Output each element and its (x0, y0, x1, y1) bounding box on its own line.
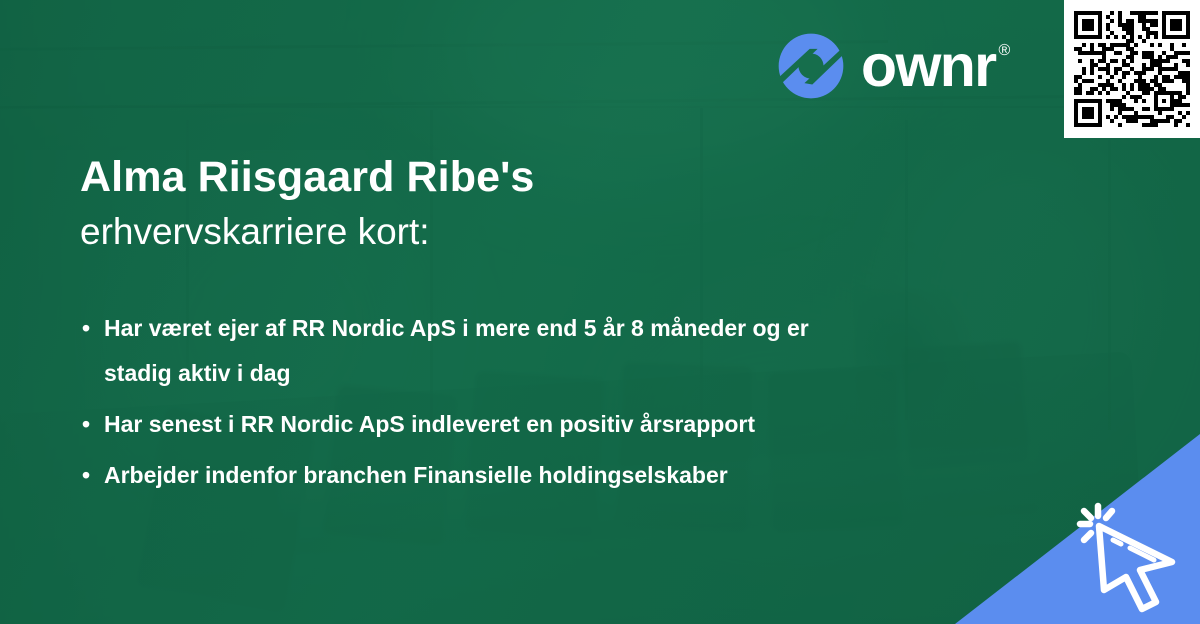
registered-trademark-icon: ® (999, 43, 1011, 59)
headline-line-2: erhvervskarriere kort: (80, 209, 960, 255)
brand-name: ownr (861, 37, 996, 96)
qr-code-icon[interactable] (1074, 11, 1190, 127)
career-facts-list: Har været ejer af RR Nordic ApS i mere e… (80, 306, 980, 503)
list-item: Arbejder indenfor branchen Finansielle h… (80, 453, 980, 498)
headline-line-1: Alma Riisgaard Ribe's (80, 152, 960, 203)
page-title: Alma Riisgaard Ribe's erhvervskarriere k… (80, 152, 960, 255)
ownr-circle-mark-icon (778, 33, 844, 99)
list-item: Har senest i RR Nordic ApS indleveret en… (80, 402, 980, 447)
list-item: Har været ejer af RR Nordic ApS i mere e… (80, 306, 874, 396)
career-card: ownr ® Alma Riisgaard Ribe's erhvervskar… (0, 0, 1200, 624)
brand-wordmark: ownr ® (861, 37, 1010, 96)
qr-code-panel[interactable] (1064, 0, 1200, 138)
brand-logo: ownr ® (778, 33, 1010, 99)
